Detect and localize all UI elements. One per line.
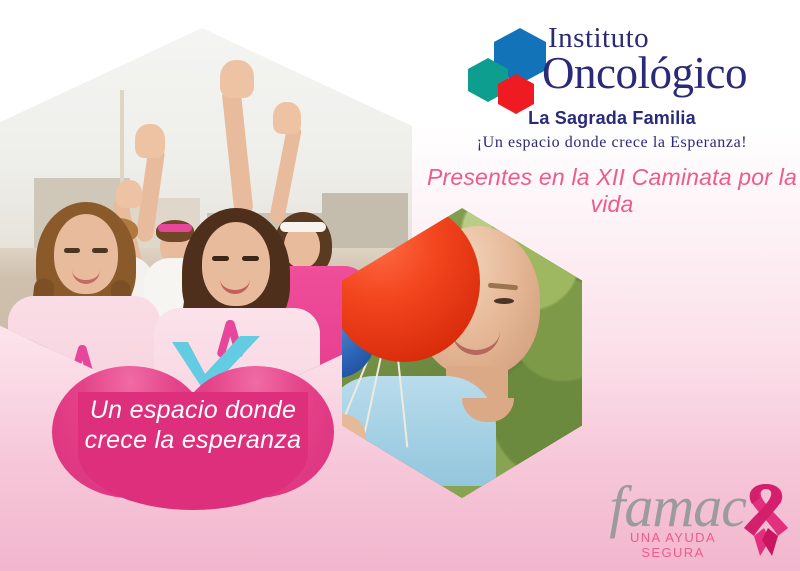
photo-hand [116, 180, 142, 208]
awareness-ribbon-icon [738, 480, 794, 558]
famac-wordmark: famac [600, 478, 746, 536]
heart-badge: Un espacio donde crece la esperanza [52, 352, 334, 498]
poster-canvas: Un espacio donde crece la esperanza Inst… [0, 0, 800, 571]
famac-logo: famac UNA AYUDA SEGURA [600, 482, 790, 562]
famac-tagline: UNA AYUDA SEGURA [600, 530, 746, 560]
photo-hand [135, 124, 165, 158]
logo-slogan: ¡Un espacio donde crece la Esperanza! [436, 134, 788, 152]
photo-hand [220, 60, 254, 98]
heart-badge-text: Un espacio donde crece la esperanza [52, 396, 334, 455]
campaign-headline: Presentes en la XII Caminata por la vida [412, 164, 800, 218]
logo-word-oncologico: Oncológico [542, 51, 796, 95]
logo-wordmark: Instituto Oncológico [546, 24, 796, 95]
photo-hand [273, 102, 301, 134]
heart-badge-line1: Un espacio donde [52, 396, 334, 426]
hexagon-logo-icon [468, 28, 552, 112]
heart-badge-line2: crece la esperanza [52, 426, 334, 456]
logo-subtitle: La Sagrada Familia [436, 108, 788, 129]
